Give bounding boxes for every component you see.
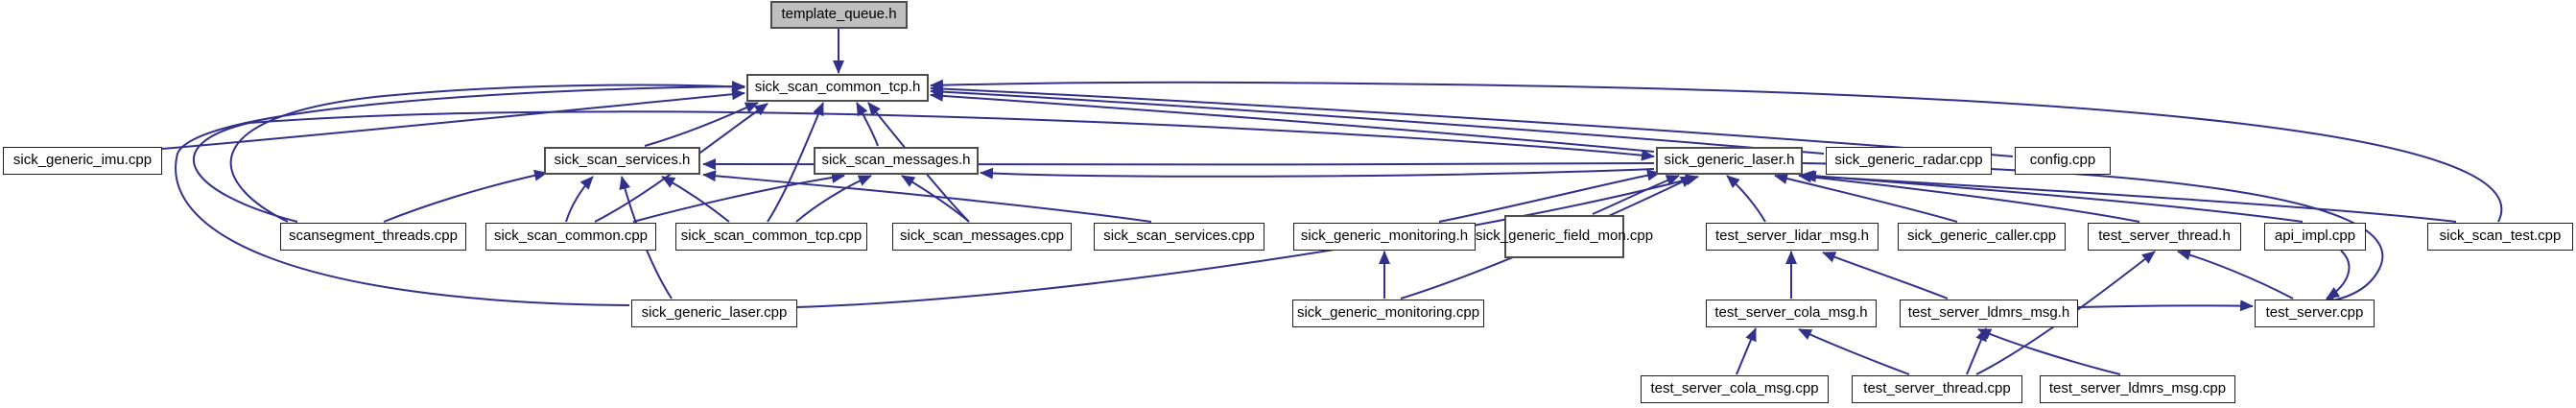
node-label-line: test_server_cola_msg.h <box>1714 305 1867 322</box>
graph-edges <box>0 0 2576 408</box>
node-label-line: sick_scan_common_tcp.h <box>755 80 921 96</box>
graph-edge-sick_scan_services_h--sick_scan_common_tcp_h <box>645 103 758 146</box>
node-label-line: sick_scan_test.cpp <box>2440 228 2562 245</box>
node-label-line: sick_scan_common.cpp <box>494 228 648 245</box>
graph-edge-sick_generic_imu_cpp--sick_scan_common_tcp_h <box>162 93 744 149</box>
node-label-line: test_server_ldmrs_msg.cpp <box>2049 381 2226 397</box>
node-label-line: sick_scan_common_tcp.cpp <box>681 228 862 245</box>
graph-edge-api_impl_cpp--sick_generic_laser_h <box>1802 175 2303 222</box>
graph-edge-test_server_ldmrs_msg_cpp--test_server_ldmrs_msg_h <box>1978 329 2120 374</box>
graph-node-template_queue_h[interactable]: template_queue.h <box>770 1 908 29</box>
graph-node-sick_generic_caller_cpp[interactable]: sick_generic_caller.cpp <box>1898 223 2066 251</box>
graph-node-test_server_thread_h[interactable]: test_server_thread.h <box>2088 223 2241 251</box>
node-label-line: test_server_cola_msg.cpp <box>1650 381 1818 397</box>
graph-node-sick_scan_messages_cpp[interactable]: sick_scan_messages.cpp <box>892 223 1072 251</box>
node-label-line: sick_generic_radar.cpp <box>1834 153 1982 169</box>
node-label-line: test_server.cpp <box>2266 305 2364 322</box>
graph-edge-sick_scan_services_cpp--sick_scan_services_h <box>703 175 1151 222</box>
node-label-line: sick_generic_laser.h <box>1665 153 1795 169</box>
node-label-line: config.cpp <box>2030 153 2095 169</box>
graph-edge-sick_scan_common_cpp--sick_scan_messages_h <box>633 176 844 222</box>
graph-edge-test_server_cola_msg_cpp--test_server_cola_msg_h <box>1737 328 1756 374</box>
graph-node-sick_scan_common_cpp[interactable]: sick_scan_common.cpp <box>485 223 656 251</box>
graph-node-test_server_thread_cpp[interactable]: test_server_thread.cpp <box>1852 375 2022 403</box>
node-label-line: sick_scan_messages.h <box>821 153 970 169</box>
node-label-line: scansegment_threads.cpp <box>289 228 458 245</box>
node-label-line: sick_generic_laser.cpp <box>642 305 788 322</box>
graph-node-sick_scan_test_cpp[interactable]: sick_scan_test.cpp <box>2427 223 2573 251</box>
graph-node-sick_generic_imu_cpp[interactable]: sick_generic_imu.cpp <box>3 147 162 175</box>
node-label-line: test_server_ldmrs_msg.h <box>1908 305 2069 322</box>
graph-node-sick_generic_field_mon_cpp[interactable]: sick_generic_field_mon.cpp <box>1504 215 1624 258</box>
graph-node-sick_generic_laser_h[interactable]: sick_generic_laser.h <box>1656 147 1803 175</box>
node-label-line: sick_generic_caller.cpp <box>1907 228 2056 245</box>
graph-edge-sick_scan_common_tcp_cpp--sick_scan_services_h <box>662 177 729 222</box>
graph-edge-scansegment_threads_cpp--sick_scan_services_h <box>384 173 547 222</box>
graph-node-sick_scan_common_tcp_cpp[interactable]: sick_scan_common_tcp.cpp <box>675 223 867 251</box>
graph-node-sick_generic_radar_cpp[interactable]: sick_generic_radar.cpp <box>1826 147 1992 175</box>
graph-edge-test_server_cpp--test_server_thread_h <box>2178 252 2293 299</box>
graph-node-sick_generic_monitoring_cpp[interactable]: sick_generic_monitoring.cpp <box>1292 300 1484 327</box>
graph-edge-api_impl_cpp--test_server_cpp <box>2327 251 2349 299</box>
node-label-line: sick_generic_field <box>1476 228 1590 245</box>
graph-node-test_server_cola_msg_h[interactable]: test_server_cola_msg.h <box>1706 300 1877 327</box>
graph-node-test_server_cpp[interactable]: test_server.cpp <box>2255 300 2375 327</box>
node-label-line: template_queue.h <box>781 7 896 23</box>
node-label-line: test_server_thread.h <box>2098 228 2231 245</box>
graph-node-test_server_cola_msg_cpp[interactable]: test_server_cola_msg.cpp <box>1641 375 1829 403</box>
graph-edge-sick_scan_common_cpp--sick_scan_services_h <box>566 177 593 222</box>
graph-node-test_server_lidar_msg_h[interactable]: test_server_lidar_msg.h <box>1706 223 1879 251</box>
graph-node-sick_scan_common_tcp_h[interactable]: sick_scan_common_tcp.h <box>746 74 929 102</box>
node-label-line: test_server_thread.cpp <box>1863 381 2010 397</box>
node-label-line: api_impl.cpp <box>2275 228 2355 245</box>
include-dependency-graph: template_queue.hsick_scan_common_tcp.hsi… <box>0 0 2576 408</box>
graph-node-api_impl_cpp[interactable]: api_impl.cpp <box>2264 223 2366 251</box>
graph-edge-sick_generic_radar_cpp--sick_scan_common_tcp_h <box>931 91 1824 154</box>
graph-node-sick_scan_services_cpp[interactable]: sick_scan_services.cpp <box>1094 223 1264 251</box>
node-label-line: sick_generic_monitoring.cpp <box>1297 305 1479 322</box>
graph-edge-test_server_ldmrs_msg_h--test_server_lidar_msg_h <box>1823 252 1948 299</box>
graph-edge-sick_generic_field_mon_cpp--sick_generic_laser_h <box>1593 176 1679 214</box>
node-label-line: _mon.cpp <box>1590 228 1653 245</box>
graph-node-sick_scan_services_h[interactable]: sick_scan_services.h <box>544 147 700 175</box>
graph-edge-sick_generic_laser_h--sick_scan_messages_h <box>981 169 1654 177</box>
graph-edge-test_server_ldmrs_msg_h--test_server_cpp <box>2078 305 2253 307</box>
graph-node-config_cpp[interactable]: config.cpp <box>2015 147 2111 175</box>
node-label-line: sick_generic_monitoring.h <box>1301 228 1468 245</box>
graph-node-test_server_ldmrs_msg_cpp[interactable]: test_server_ldmrs_msg.cpp <box>2040 375 2235 403</box>
graph-node-sick_generic_laser_cpp[interactable]: sick_generic_laser.cpp <box>631 300 797 327</box>
node-label-line: sick_scan_messages.cpp <box>900 228 1064 245</box>
node-label-line: sick_generic_imu.cpp <box>13 153 152 169</box>
node-label-line: test_server_lidar_msg.h <box>1715 228 1869 245</box>
node-label-line: sick_scan_services.h <box>555 153 691 169</box>
graph-node-sick_generic_monitoring_h[interactable]: sick_generic_monitoring.h <box>1293 223 1476 251</box>
graph-edge-test_server_lidar_msg_h--sick_generic_laser_h <box>1727 176 1765 222</box>
graph-node-sick_scan_messages_h[interactable]: sick_scan_messages.h <box>814 147 979 175</box>
node-label-line: sick_scan_services.cpp <box>1103 228 1255 245</box>
graph-node-test_server_ldmrs_msg_h[interactable]: test_server_ldmrs_msg.h <box>1900 300 2078 327</box>
graph-edge-test_server_thread_cpp--test_server_cola_msg_h <box>1799 329 1909 374</box>
graph-node-scansegment_threads_cpp[interactable]: scansegment_threads.cpp <box>280 223 466 251</box>
graph-edge-test_server_thread_cpp--test_server_ldmrs_msg_h <box>1967 328 1986 374</box>
